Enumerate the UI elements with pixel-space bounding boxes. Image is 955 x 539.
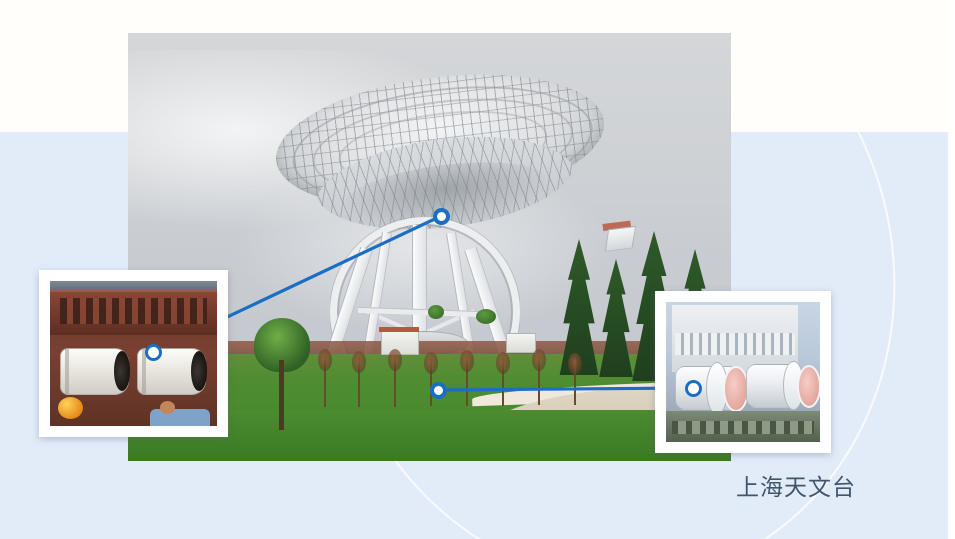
photo-caption: 上海天文台 bbox=[736, 468, 856, 502]
sapling-7 bbox=[538, 355, 540, 405]
slide-canvas: 上海天文台 bbox=[0, 0, 955, 539]
inset-right-gear-teeth bbox=[675, 333, 795, 355]
inset-right-pink-cap-2 bbox=[797, 365, 820, 408]
sapling-6 bbox=[502, 358, 504, 406]
background-right-strip bbox=[948, 0, 955, 539]
callout-marker-upper-dish[interactable] bbox=[433, 208, 450, 225]
cylinder-band bbox=[65, 349, 69, 394]
small-building-roof bbox=[379, 327, 419, 332]
inset-left-machinery[interactable] bbox=[39, 270, 228, 437]
callout-marker-lower-base[interactable] bbox=[430, 382, 447, 399]
callout-marker-left-inset[interactable] bbox=[145, 344, 162, 361]
inset-left-beam-slots bbox=[60, 298, 207, 324]
sapling-5 bbox=[466, 356, 468, 406]
inset-left-orange-sphere bbox=[58, 397, 83, 419]
inset-right-bolt-row bbox=[672, 421, 814, 434]
small-building-2 bbox=[506, 333, 536, 353]
inset-right-photo bbox=[666, 302, 820, 442]
callout-marker-right-inset[interactable] bbox=[685, 380, 702, 397]
inset-right-pink-cap-1 bbox=[723, 366, 749, 412]
sapling-2 bbox=[358, 357, 360, 407]
young-tree-center bbox=[248, 318, 314, 430]
inset-left-cylinder-1 bbox=[60, 348, 129, 395]
inset-left-photo bbox=[50, 281, 217, 426]
sapling-3 bbox=[394, 355, 396, 407]
sapling-1 bbox=[324, 355, 326, 407]
inset-right-machinery[interactable] bbox=[655, 291, 831, 453]
shrub-2 bbox=[476, 309, 496, 324]
sapling-4 bbox=[430, 358, 432, 406]
feed-horn bbox=[605, 226, 636, 252]
shrub-1 bbox=[428, 305, 444, 319]
sapling-8 bbox=[574, 359, 576, 405]
inset-left-worker-body bbox=[150, 409, 210, 426]
young-tree-trunk bbox=[279, 360, 284, 430]
